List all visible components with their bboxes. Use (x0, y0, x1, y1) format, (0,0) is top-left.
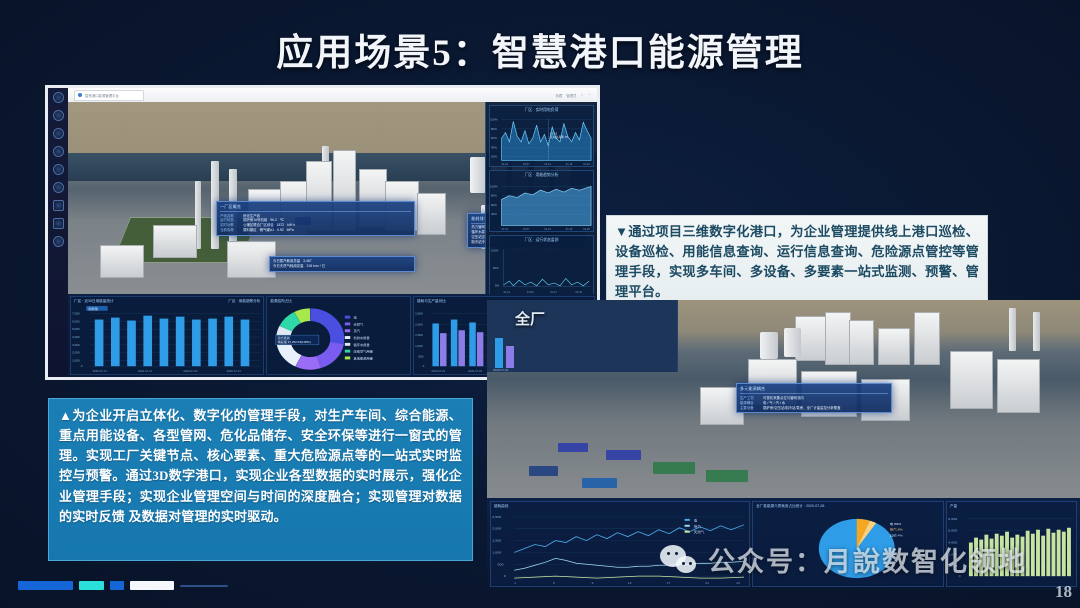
page-number: 18 (1055, 582, 1072, 602)
line-chart-status: 100%50%0% 01-0101-09 01-1701-25 (490, 244, 593, 296)
svg-text:0: 0 (504, 575, 506, 578)
svg-text:4,000: 4,000 (948, 541, 957, 544)
svg-text:100%: 100% (490, 118, 498, 122)
svg-text:0%: 0% (495, 284, 500, 288)
svg-text:其他 4%: 其他 4% (890, 533, 903, 537)
svg-text:2,000: 2,000 (492, 527, 501, 530)
chimney (1009, 308, 1016, 352)
svg-text:3,000: 3,000 (72, 343, 80, 347)
deco-bar-2 (79, 581, 104, 590)
dashboard-bottom-screenshot: 全厂 2020-07-01 (487, 300, 1080, 590)
pie-chart-energy-share: 电 88% 蒸汽 8% 其他 4% (753, 509, 943, 586)
svg-text:2,000: 2,000 (948, 565, 957, 568)
deco-bar-1 (18, 581, 73, 590)
toolbar-item-0[interactable]: 收藏 (556, 93, 563, 98)
browser-tabbar: 智慧港口能源管理平台 收藏 管理员 ☆ ⋯ (68, 88, 597, 102)
callout-left-text: ▲为企业开启立体化、数字化的管理手段，对生产车间、综合能源、重点用能设备、各型管… (59, 406, 462, 527)
svg-text:01-01: 01-01 (502, 228, 509, 231)
deco-bar-4 (130, 581, 174, 590)
container (558, 443, 588, 453)
mini-chart-title: 厂区 · 实时用电负荷 (490, 106, 593, 113)
svg-text:500: 500 (497, 563, 503, 566)
info-panel-consumption[interactable]: 今日蒸汽耗用总量 3,487 今日天然气耗用总量 218 km³ / 日 (269, 256, 415, 272)
chart-title: 能源结构占比 (270, 299, 292, 304)
bar-chart-energy: 用能量 (71, 304, 263, 374)
mini-chart-title: 厂区 · 运行状态监测 (490, 236, 593, 243)
svg-text:01-19: 01-19 (566, 228, 573, 231)
building (849, 320, 875, 366)
svg-text:6,000: 6,000 (948, 517, 957, 520)
svg-text:7,000: 7,000 (72, 312, 80, 316)
svg-text:吨标煤 17,252.03(100%): 吨标煤 17,252.03(100%) (278, 339, 311, 344)
svg-text:13: 13 (628, 581, 632, 584)
svg-text:蒸汽 8%: 蒸汽 8% (890, 527, 903, 531)
toolbar-item-1[interactable]: 管理员 (566, 93, 576, 98)
svg-text:01-13: 01-13 (544, 163, 551, 166)
info-row: 今日天然气耗用总量 218 km³ / 日 (273, 264, 411, 269)
pipeline-icon[interactable] (53, 182, 64, 193)
chart-title-right: 厂区 · 用能趋势分析 (228, 299, 260, 304)
building (100, 245, 144, 279)
svg-text:电: 电 (354, 315, 357, 320)
area-chart-trend: 100%80%60%40% 01-0101-07 01-1301-1901-25 (490, 179, 593, 231)
building (825, 312, 851, 365)
svg-text:0: 0 (423, 364, 425, 368)
monitor-icon[interactable] (53, 128, 64, 139)
callout-left: ▲为企业开启立体化、数字化的管理手段，对生产车间、综合能源、重点用能设备、各型管… (48, 398, 473, 561)
chart-title: 能耗与生产量对比 (417, 299, 446, 304)
callout-left-marker: ▲ (59, 408, 72, 423)
svg-text:40%: 40% (491, 212, 497, 216)
svg-text:100%: 100% (490, 184, 498, 188)
svg-text:23: 23 (736, 581, 740, 584)
svg-text:新鲜水用量: 新鲜水用量 (354, 335, 370, 340)
info-unit: MPa (287, 228, 294, 233)
svg-text:2,500: 2,500 (415, 312, 423, 316)
info-value: 今日天然气耗用总量 (273, 264, 304, 269)
decoration-bars (18, 581, 228, 590)
svg-text:4,000: 4,000 (72, 335, 80, 339)
info-panel-title: 多元能源耦合 (740, 386, 888, 394)
svg-text:3,000: 3,000 (948, 553, 957, 556)
report-icon[interactable] (53, 218, 64, 229)
svg-text:20%: 20% (491, 155, 497, 159)
svg-text:6,000: 6,000 (72, 320, 80, 324)
plant-3d-scene[interactable]: 全厂 2020-07-01 (487, 300, 1080, 498)
container (653, 462, 695, 474)
svg-text:0: 0 (81, 364, 83, 368)
svg-text:1,000: 1,000 (492, 551, 501, 554)
svg-text:实时负荷率 78: 实时负荷率 78 (550, 135, 568, 139)
more-icon[interactable]: ⋯ (588, 93, 591, 97)
svg-text:5: 5 (553, 581, 555, 584)
svg-text:01-13: 01-13 (550, 131, 557, 135)
svg-text:用能量: 用能量 (88, 306, 98, 311)
svg-text:2,000: 2,000 (72, 351, 80, 355)
info-panel-multi-energy[interactable]: 多元能源耦合 生产工况 可视化采集点位与管网流向 能源耦合 电 / 气 / 汽 … (736, 383, 892, 413)
info-number: 218 km³ / 日 (307, 264, 325, 269)
callout-right-marker: ▼ (615, 224, 628, 239)
building (417, 193, 445, 235)
svg-text:500: 500 (418, 355, 423, 359)
svg-text:2,000: 2,000 (415, 323, 423, 327)
container (706, 470, 748, 482)
svg-text:01-25: 01-25 (583, 163, 590, 166)
info-panel-plant-overview[interactable]: 一厂区概览 产线名称 炼化生产线 运行状态 锅炉房1#号机组 96.2 ℃ (216, 201, 414, 236)
svg-text:天然气: 天然气 (354, 322, 364, 327)
mini-chart-column: 厂区 · 实时用电负荷 100%80%60% 40%20% (485, 102, 597, 300)
dashboard-bottom-chart-strip: 能耗曲线 2,5002,0001,500 1,0005000 (487, 498, 1080, 590)
settings-icon[interactable] (53, 236, 64, 247)
dashboard-top-sidenav[interactable] (48, 88, 68, 380)
slide-canvas: 应用场景5：智慧港口能源管理 智慧港口能源管 (0, 0, 1080, 608)
svg-text:2,500: 2,500 (492, 515, 501, 518)
callout-right-text: ▼通过项目三维数字化港口，为企业管理提供线上港口巡检、设备巡检、用能信息查询、运… (615, 222, 979, 302)
line-chart-energy-curve: 2,5002,0001,500 1,0005000 159 13172123 电… (491, 509, 749, 586)
favicon-icon (78, 93, 82, 97)
svg-text:01-13: 01-13 (544, 228, 551, 231)
info-row: 主要设备 锅炉房/空压站/制冷站/泵房，全厂计量监控分析覆盖 (740, 406, 888, 411)
svg-text:60%: 60% (491, 203, 497, 207)
plant-tag-label: 全厂 (515, 308, 545, 329)
svg-text:21: 21 (705, 581, 709, 584)
page-title: 应用场景5：智慧港口能源管理 (0, 22, 1080, 76)
star-icon[interactable]: ☆ (581, 93, 584, 97)
mini-chart-title: 厂区 · 用能趋势分析 (490, 171, 593, 178)
mini-chart-load[interactable]: 厂区 · 实时用电负荷 100%80%60% 40%20% (489, 105, 594, 167)
browser-tab[interactable]: 智慧港口能源管理平台 (74, 90, 144, 101)
svg-text:2020-07-03: 2020-07-03 (468, 369, 482, 373)
svg-text:01-19: 01-19 (566, 163, 573, 166)
callout-right-body: 通过项目三维数字化港口，为企业管理提供线上港口巡检、设备巡检、用能信息查询、运行… (615, 224, 979, 299)
chart-card-energy-bars[interactable]: 厂区 · 近30日用能量统计 厂区 · 用能趋势分析 用能量 (70, 296, 264, 375)
bar-chart-output: 6,0005,0004,000 3,0002,0000 (947, 509, 1076, 586)
svg-text:100%: 100% (491, 248, 499, 252)
info-value: 原料罐区 · 储气罐A1 (243, 228, 274, 233)
svg-text:1,000: 1,000 (415, 344, 423, 348)
svg-text:80%: 80% (491, 127, 497, 131)
info-key: 当前负荷 (220, 228, 240, 233)
area-chart-load: 100%80%60% 40%20% 01-0101-07 01-1301-190… (490, 114, 593, 166)
svg-text:其他能源用量: 其他能源用量 (354, 356, 373, 361)
info-row: 当前负荷 原料罐区 · 储气罐A1 0.92 MPa (220, 228, 410, 233)
svg-text:循环水用量: 循环水用量 (354, 342, 370, 347)
container (529, 466, 559, 476)
mini-chart-status[interactable]: 厂区 · 运行状态监测 100%50%0% 01-0101-09 01-1701… (489, 235, 594, 297)
svg-text:蒸汽: 蒸汽 (354, 328, 360, 333)
svg-text:2020-07-01: 2020-07-01 (93, 369, 108, 373)
svg-text:50%: 50% (493, 266, 499, 270)
svg-text:9: 9 (592, 581, 594, 584)
storage-tank (470, 157, 486, 193)
svg-text:1,500: 1,500 (492, 539, 501, 542)
building (914, 312, 940, 365)
svg-text:17: 17 (667, 581, 671, 584)
chimney (1033, 312, 1040, 352)
mini-chart-trend[interactable]: 厂区 · 用能趋势分析 100%80%60%40% 01-01 (489, 170, 594, 232)
storage-tank (760, 332, 778, 360)
energy-icon[interactable] (53, 146, 64, 157)
svg-text:80%: 80% (491, 194, 497, 198)
svg-text:2020-07-01: 2020-07-01 (431, 369, 445, 373)
svg-text:天然气: 天然气 (694, 530, 706, 534)
svg-text:0: 0 (959, 575, 961, 578)
svg-text:1,000: 1,000 (72, 359, 80, 363)
browser-toolbar-right[interactable]: 收藏 管理员 ☆ ⋯ (556, 93, 597, 98)
svg-text:2020-07-01: 2020-07-01 (493, 368, 509, 372)
svg-text:01-01: 01-01 (502, 163, 509, 166)
callout-left-body: 为企业开启立体化、数字化的管理手段，对生产车间、综合能源、重点用能设备、各型管网… (59, 408, 462, 524)
chart-card-energy-share[interactable]: 全厂各能源介质耗用占比统计 · 2020-07-28 电 88% 蒸汽 8% 其… (752, 501, 944, 587)
device-icon[interactable] (53, 164, 64, 175)
svg-text:2020-07-11: 2020-07-11 (138, 369, 153, 373)
svg-text:2020-07-21: 2020-07-21 (183, 369, 198, 373)
svg-text:60%: 60% (491, 136, 497, 140)
svg-text:2020-07-31: 2020-07-31 (227, 369, 242, 373)
building (153, 225, 197, 259)
chart-card-energy-curve[interactable]: 能耗曲线 2,5002,0001,500 1,0005000 (490, 501, 750, 587)
overview-icon[interactable] (53, 110, 64, 121)
svg-text:1,500: 1,500 (415, 333, 423, 337)
info-key: 主要设备 (740, 406, 760, 411)
building (878, 328, 910, 366)
storage-tank (784, 328, 802, 358)
deco-line (180, 585, 228, 587)
overlay-mini-bar-chart: 2020-07-01 (491, 330, 525, 372)
browser-tab-label: 智慧港口能源管理平台 (85, 93, 119, 98)
svg-text:01-07: 01-07 (523, 228, 530, 231)
svg-text:01-25: 01-25 (583, 228, 590, 231)
alarm-icon[interactable] (53, 200, 64, 211)
chart-title: 厂区 · 近30日用能量统计 (74, 299, 114, 304)
menu-toggle-icon[interactable] (53, 92, 64, 103)
container (606, 450, 642, 460)
svg-text:5,000: 5,000 (72, 327, 80, 331)
callout-right: ▼通过项目三维数字化港口，为企业管理提供线上港口巡检、设备巡检、用能信息查询、运… (606, 215, 988, 303)
info-panel-title: 一厂区概览 (220, 204, 410, 212)
chart-card-output[interactable]: 产量 (946, 501, 1077, 587)
deco-bar-3 (110, 581, 124, 590)
info-value: 锅炉房/空压站/制冷站/泵房，全厂计量监控分析覆盖 (763, 406, 840, 411)
donut-chart-energy-mix: 综合能耗 吨标煤 17,252.03(100%) 电 天然气 蒸汽 新鲜水用量 … (267, 304, 410, 374)
container (582, 478, 618, 488)
svg-text:蒸汽: 蒸汽 (694, 524, 702, 528)
svg-text:01-07: 01-07 (523, 163, 530, 166)
svg-text:电 88%: 电 88% (890, 521, 902, 525)
info-number: 0.92 (277, 228, 284, 233)
building (950, 351, 994, 408)
svg-text:5,000: 5,000 (948, 529, 957, 532)
svg-text:1: 1 (514, 581, 516, 584)
svg-text:电: 电 (694, 518, 698, 522)
chart-card-energy-pie[interactable]: 能源结构占比 综合 (266, 296, 411, 375)
svg-text:压缩空气用量: 压缩空气用量 (354, 349, 373, 354)
building (997, 359, 1041, 412)
svg-text:40%: 40% (491, 145, 497, 149)
